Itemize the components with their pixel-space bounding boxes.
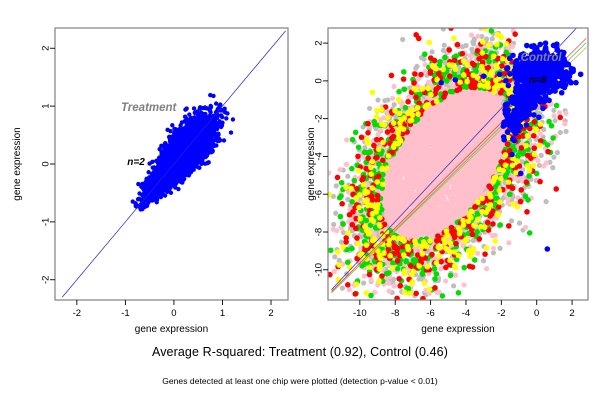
identity-line [62,31,285,297]
y-axis-title: gene expression [12,127,23,200]
caption-r-squared: Average R-squared: Treatment (0.92), Con… [0,345,600,359]
panel-title-treatment: Treatment [121,102,178,114]
y-tick-label: 1 [41,103,52,108]
y-tick-label: 0 [41,161,52,166]
x-tick-label: 2 [268,308,273,319]
y-tick-label: 0 [314,78,325,83]
x-tick-label: -10 [353,308,367,319]
panel-control: -10-8-6-4-20220-2-4-6-8-10gene expressio… [300,0,600,340]
x-tick-label: 0 [171,308,176,319]
y-axis-title: gene expression [306,127,317,200]
x-tick-label: 0 [534,308,539,319]
control-scatter-plot: -10-8-6-4-20220-2-4-6-8-10gene expressio… [300,0,600,340]
panel-treatment: -2-1012-2-1012gene expressiongene expres… [0,0,300,340]
sample-size-annotation: n=6 [529,75,547,86]
x-tick-label: -2 [73,308,81,319]
panel-title-control: Control [521,52,563,64]
x-tick-label: -2 [497,308,505,319]
y-tick-label: -8 [314,228,325,236]
x-tick-label: -6 [426,308,434,319]
x-axis-title: gene expression [135,324,208,335]
y-tick-label: -2 [41,276,52,284]
y-tick-label: -2 [314,114,325,122]
y-tick-label: -10 [314,263,325,277]
y-tick-label: 2 [41,46,52,51]
y-tick-label: -1 [41,218,52,226]
figure-root: -2-1012-2-1012gene expressiongene expres… [0,0,600,400]
x-tick-label: 1 [220,308,225,319]
x-tick-label: -8 [391,308,399,319]
x-tick-label: -1 [121,308,129,319]
caption-detection-note: Genes detected at least one chip were pl… [0,376,600,386]
y-tick-label: 2 [314,40,325,45]
caption-block: Average R-squared: Treatment (0.92), Con… [0,340,600,400]
x-tick-label: 2 [569,308,574,319]
x-tick-label: -4 [462,308,470,319]
sample-size-annotation: n=2 [127,157,145,168]
panel-container: -2-1012-2-1012gene expressiongene expres… [0,0,600,340]
treatment-scatter-plot: -2-1012-2-1012gene expressiongene expres… [0,0,300,340]
x-axis-title: gene expression [421,324,494,335]
